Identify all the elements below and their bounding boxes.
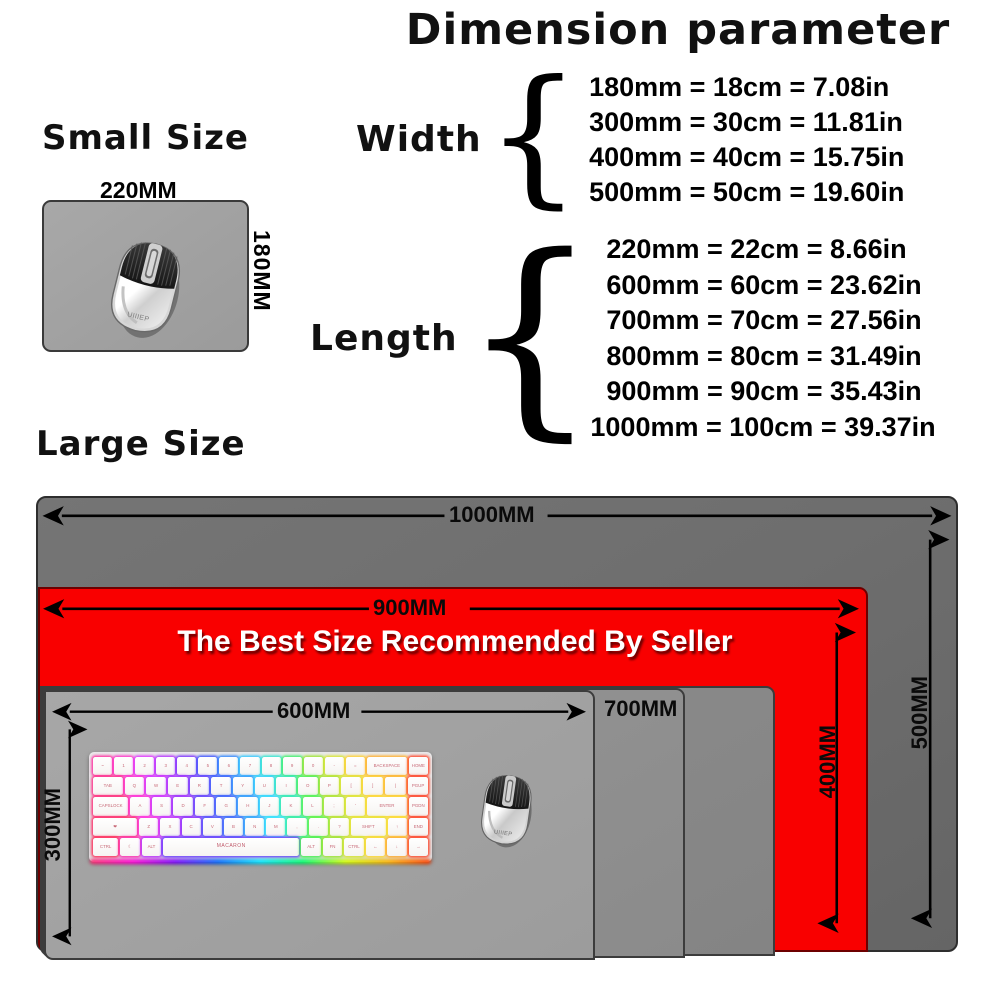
red-width-label: 900MM	[373, 595, 446, 621]
keyboard-key: W	[146, 777, 166, 795]
keyboard-row: ❤ZXCVBNM,.?SHIFT↑END	[93, 818, 428, 836]
keyboard-key: G	[216, 797, 236, 815]
spec-row: 700mm = 70cm = 27.56in	[606, 303, 935, 339]
keyboard-key: N	[245, 818, 264, 836]
keyboard-key: R	[190, 777, 210, 795]
keyboard-key: D	[173, 797, 193, 815]
keyboard-key: O	[298, 777, 318, 795]
panel-700mm-label: 700MM	[604, 696, 677, 722]
keyboard-key: ALT	[301, 838, 320, 856]
keyboard-key: ☾	[120, 838, 139, 856]
keyboard-key: [	[341, 777, 361, 795]
width-spec-rows: 180mm = 18cm = 7.08in 300mm = 30cm = 11.…	[581, 70, 904, 210]
large-size-heading: Large Size	[36, 424, 246, 464]
keyboard-key: ↑	[388, 818, 407, 836]
keyboard-row: TABQWERTYUIOP[]|PGUP	[93, 777, 428, 795]
keyboard-key: CTRL	[93, 838, 118, 856]
recommendation-text: The Best Size Recommended By Seller	[40, 625, 870, 659]
keyboard-key: ?	[330, 818, 349, 836]
length-spec-rows: 220mm = 22cm = 8.66in 600mm = 60cm = 23.…	[598, 232, 935, 445]
recommended-size-panel: 900MM 400MM The Best Size Recommended By…	[38, 587, 868, 952]
keyboard-key: 0	[304, 757, 323, 775]
outer-width-label: 1000MM	[449, 502, 535, 528]
keyboard-key: ←	[366, 838, 385, 856]
keyboard-row: CTRL☾ALTMACARONALTFNCTRL←↓→	[93, 838, 428, 856]
keyboard-key: 9	[283, 757, 302, 775]
keyboard-key: PGDN	[409, 797, 429, 815]
large-mousepad-diagram: 1000MM 500MM 900MM 400MM The Best Size R…	[36, 496, 958, 952]
keyboard-key: U	[255, 777, 275, 795]
keyboard-key: MACARON	[163, 838, 299, 856]
spec-row: 600mm = 60cm = 23.62in	[606, 268, 935, 304]
keyboard-key: ]	[363, 777, 383, 795]
panel-600mm: 600MM 300MM ~1234567890-=BACKSPACEHOMETA…	[44, 690, 595, 960]
keyboard-key: ↓	[387, 838, 406, 856]
panel-700mm: 700MM 600MM 300MM ~1234567890-=BACKSPACE…	[42, 688, 685, 958]
keyboard-key: ,	[287, 818, 306, 836]
keyboard-rgb-glow	[90, 859, 431, 864]
keyboard-key: P	[320, 777, 340, 795]
spec-row: 400mm = 40cm = 15.75in	[589, 140, 904, 175]
spec-row: 220mm = 22cm = 8.66in	[606, 232, 935, 268]
keyboard-key: =	[346, 757, 365, 775]
spec-row: 500mm = 50cm = 19.60in	[589, 175, 904, 210]
keyboard-key: H	[238, 797, 258, 815]
keyboard-key: .	[309, 818, 328, 836]
keyboard-key: 5	[198, 757, 217, 775]
spec-row: 800mm = 80cm = 31.49in	[606, 339, 935, 375]
keyboard-key: J	[260, 797, 280, 815]
length-label: Length	[310, 319, 462, 359]
keyboard-key: X	[160, 818, 179, 836]
keyboard-key: K	[281, 797, 301, 815]
length-spec-group: Length { 220mm = 22cm = 8.66in 600mm = 6…	[310, 232, 936, 445]
spec-row: 900mm = 90cm = 35.43in	[606, 374, 935, 410]
keyboard-key: 2	[135, 757, 154, 775]
outer-height-label: 500MM	[907, 676, 933, 749]
keyboard-key: CAPSLOCK	[93, 797, 128, 815]
keyboard-key: FN	[323, 838, 342, 856]
keyboard-key: |	[385, 777, 407, 795]
keyboard-key: V	[203, 818, 222, 836]
keyboard-key: ENTER	[367, 797, 406, 815]
rgb-keyboard-icon: ~1234567890-=BACKSPACEHOMETABQWERTYUIOP[…	[89, 752, 432, 862]
width-spec-group: Width { 180mm = 18cm = 7.08in 300mm = 30…	[356, 70, 904, 210]
keyboard-key: TAB	[93, 777, 123, 795]
spec-row: 180mm = 18cm = 7.08in	[589, 70, 904, 105]
small-size-heading: Small Size	[42, 118, 249, 158]
keyboard-key: T	[211, 777, 231, 795]
keyboard-key: B	[224, 818, 243, 836]
computer-mouse-icon: UIIIEP	[470, 754, 544, 858]
keyboard-key: '	[346, 797, 366, 815]
keyboard-key: HOME	[409, 757, 428, 775]
keyboard-key: C	[182, 818, 201, 836]
keyboard-key: ~	[93, 757, 112, 775]
panel-600mm-label: 600MM	[277, 698, 350, 724]
keyboard-key: E	[168, 777, 188, 795]
keyboard-key: 7	[240, 757, 259, 775]
width-label: Width	[356, 120, 486, 160]
keyboard-key: Y	[233, 777, 253, 795]
keyboard-key: ;	[324, 797, 344, 815]
keyboard-key: S	[152, 797, 172, 815]
keyboard-key: →	[409, 838, 428, 856]
keyboard-key: CTRL	[344, 838, 363, 856]
keyboard-key: SHIFT	[351, 818, 386, 836]
keyboard-key: L	[303, 797, 323, 815]
keyboard-key: F	[195, 797, 215, 815]
panel-800mm: 800MM 700MM 600MM 300MM ~1234567890-=BAC…	[40, 686, 775, 956]
computer-mouse-icon: UIIIEP	[99, 230, 195, 335]
keyboard-key: M	[266, 818, 285, 836]
keyboard-key: ❤	[93, 818, 137, 836]
keyboard-key: Z	[139, 818, 158, 836]
keyboard-key: 4	[177, 757, 196, 775]
keyboard-key: 3	[156, 757, 175, 775]
keyboard-key: 1	[114, 757, 133, 775]
keyboard-row: CAPSLOCKASDFGHJKL;'ENTERPGDN	[93, 797, 428, 815]
spec-row: 1000mm = 100cm = 39.37in	[590, 410, 935, 446]
keyboard-key: A	[130, 797, 150, 815]
red-height-label: 400MM	[815, 725, 841, 798]
keyboard-key: PGUP	[408, 777, 428, 795]
panel-600mm-height-label: 300MM	[40, 788, 66, 861]
keyboard-row: ~1234567890-=BACKSPACEHOME	[93, 757, 428, 775]
keyboard-key: 6	[219, 757, 238, 775]
keyboard-key: -	[325, 757, 344, 775]
small-mousepad: UIIIEP	[42, 200, 249, 352]
keyboard-key: BACKSPACE	[367, 757, 407, 775]
keyboard-key: ALT	[142, 838, 161, 856]
spec-row: 300mm = 30cm = 11.81in	[589, 105, 904, 140]
small-pad-height-label: 180MM	[248, 230, 275, 312]
page-title: Dimension parameter	[388, 4, 968, 56]
keyboard-key: END	[409, 818, 428, 836]
keyboard-key: Q	[125, 777, 145, 795]
keyboard-key: I	[276, 777, 296, 795]
keyboard-key: 8	[262, 757, 281, 775]
